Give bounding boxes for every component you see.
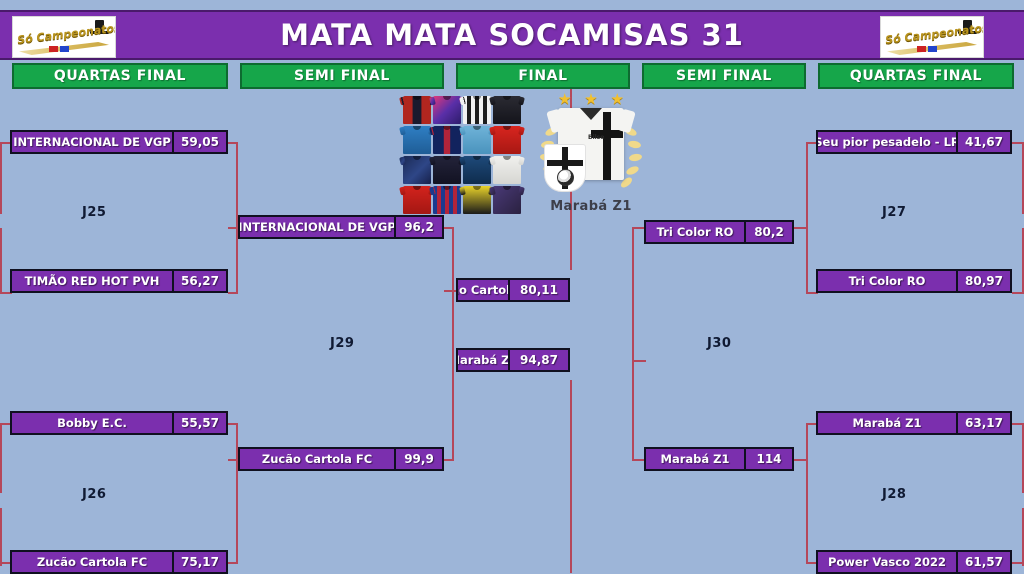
- jersey-icon: [403, 96, 431, 124]
- team-score: 80,11: [508, 280, 568, 300]
- jersey-icon: [493, 96, 521, 124]
- jersey-collage: [403, 96, 521, 214]
- jersey-icon: [463, 96, 491, 124]
- team-score: 114: [744, 449, 792, 469]
- champion-name: Marabá Z1: [536, 199, 646, 214]
- team-score: 63,17: [956, 413, 1010, 433]
- team-name: Bobby E.C.: [12, 413, 172, 433]
- connector-spine: [570, 380, 572, 573]
- round-header-quartas-final-right: QUARTAS FINAL: [818, 63, 1014, 89]
- match-box[interactable]: Zucão Cartola FC 75,17: [10, 550, 228, 574]
- team-name: TIMÃO RED HOT PVH: [12, 271, 172, 291]
- team-name: Marabá Z1: [458, 350, 508, 370]
- connector: [794, 459, 808, 461]
- match-code: J27: [882, 205, 906, 220]
- match-box[interactable]: Marabá Z1 114: [644, 447, 794, 471]
- star-icon: ★: [584, 92, 597, 108]
- match-box[interactable]: Marabá Z1 94,87: [456, 348, 570, 372]
- match-box[interactable]: Tri Color RO 80,97: [816, 269, 1012, 293]
- match-box[interactable]: INTERNACIONAL DE VGP 59,05: [10, 130, 228, 154]
- team-name: Tri Color RO: [646, 222, 744, 242]
- team-score: 56,27: [172, 271, 226, 291]
- team-score: 94,87: [508, 350, 568, 370]
- match-box[interactable]: Power Vasco 2022 61,57: [816, 550, 1012, 574]
- team-name: INTERNACIONAL DE VGP: [12, 132, 172, 152]
- round-header-semi-final-right: SEMI FINAL: [642, 63, 806, 89]
- logo-right: Só Campeonatos: [880, 16, 984, 58]
- connector: [806, 423, 808, 563]
- champion-stars: ★ ★ ★: [558, 92, 624, 108]
- connector: [0, 228, 2, 294]
- jersey-icon: [493, 186, 521, 214]
- team-score: 59,05: [172, 132, 226, 152]
- champion-emblem: ★ ★ ★ Bilse: [536, 92, 646, 222]
- connector: [632, 227, 634, 459]
- connector: [452, 227, 454, 459]
- match-code: J26: [82, 487, 106, 502]
- title-bar: [0, 10, 1024, 60]
- connector: [632, 459, 644, 461]
- team-score: 41,67: [956, 132, 1010, 152]
- team-name: Marabá Z1: [646, 449, 744, 469]
- jersey-icon: [433, 96, 461, 124]
- jersey-icon: [493, 126, 521, 154]
- connector: [228, 562, 238, 564]
- logo-chip-red-icon: [49, 46, 58, 52]
- match-box[interactable]: Zucão Cartola FC 99,9: [238, 447, 444, 471]
- match-box[interactable]: Bobby E.C. 55,57: [10, 411, 228, 435]
- connector: [0, 423, 2, 493]
- jersey-icon: [463, 126, 491, 154]
- match-box[interactable]: TIMÃO RED HOT PVH 56,27: [10, 269, 228, 293]
- logo-chip-red-icon: [917, 46, 926, 52]
- team-name: Zucão Cartola FC: [240, 449, 394, 469]
- team-score: 99,9: [394, 449, 442, 469]
- connector: [444, 290, 456, 292]
- jersey-icon: [433, 186, 461, 214]
- jersey-icon: [433, 156, 461, 184]
- team-score: 75,17: [172, 552, 226, 572]
- team-name: INTERNACIONAL DE VGP: [240, 217, 394, 237]
- star-icon: ★: [611, 92, 624, 108]
- logo-chip-blue-icon: [928, 46, 937, 52]
- team-name: Seu pior pesadelo - LR: [818, 132, 956, 152]
- team-name: Tri Color RO: [818, 271, 956, 291]
- round-header-quartas-final-left: QUARTAS FINAL: [12, 63, 228, 89]
- match-code: J29: [330, 336, 354, 351]
- star-icon: ★: [558, 92, 571, 108]
- logo-chip-blue-icon: [60, 46, 69, 52]
- team-score: 96,2: [394, 217, 442, 237]
- team-score: 61,57: [956, 552, 1010, 572]
- match-code: J30: [707, 336, 731, 351]
- connector: [806, 142, 808, 294]
- match-box[interactable]: Marabá Z1 63,17: [816, 411, 1012, 435]
- match-box[interactable]: Tri Color RO 80,2: [644, 220, 794, 244]
- connector: [444, 459, 454, 461]
- match-box[interactable]: Zucão Cartola FC 80,11: [456, 278, 570, 302]
- bracket-canvas: Só Campeonatos MATA MATA SOCAMISAS 31 Só…: [0, 0, 1024, 573]
- jersey-icon: [463, 156, 491, 184]
- team-score: 55,57: [172, 413, 226, 433]
- match-code: J25: [82, 205, 106, 220]
- round-header-final: FINAL: [456, 63, 630, 89]
- connector: [632, 360, 646, 362]
- club-crest-icon: [544, 144, 586, 192]
- team-name: Zucão Cartola FC: [12, 552, 172, 572]
- connector: [794, 227, 808, 229]
- jersey-icon: [403, 156, 431, 184]
- jersey-icon: [403, 186, 431, 214]
- soccer-ball-icon: [557, 169, 574, 186]
- match-box[interactable]: INTERNACIONAL DE VGP 96,2: [238, 215, 444, 239]
- match-box[interactable]: Seu pior pesadelo - LR 41,67: [816, 130, 1012, 154]
- round-header-semi-final-left: SEMI FINAL: [240, 63, 444, 89]
- jersey-brand-label: Bilse: [588, 134, 604, 141]
- logo-left: Só Campeonatos: [12, 16, 116, 58]
- connector: [0, 508, 2, 566]
- team-score: 80,97: [956, 271, 1010, 291]
- connector: [0, 142, 2, 214]
- jersey-icon: [493, 156, 521, 184]
- connector: [236, 423, 238, 563]
- team-name: Zucão Cartola FC: [458, 280, 508, 300]
- team-name: Marabá Z1: [818, 413, 956, 433]
- jersey-icon: [433, 126, 461, 154]
- jersey-icon: [463, 186, 491, 214]
- match-code: J28: [882, 487, 906, 502]
- connector: [228, 292, 238, 294]
- team-score: 80,2: [744, 222, 792, 242]
- team-name: Power Vasco 2022: [818, 552, 956, 572]
- jersey-icon: [403, 126, 431, 154]
